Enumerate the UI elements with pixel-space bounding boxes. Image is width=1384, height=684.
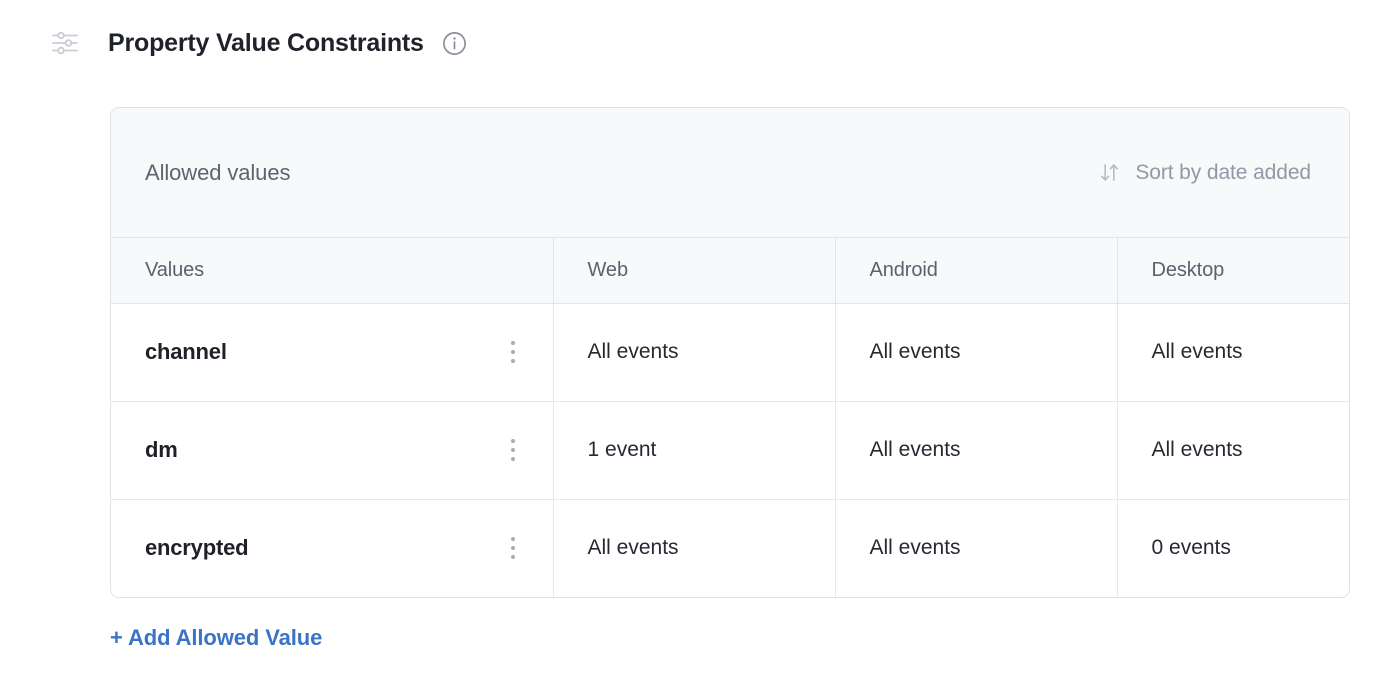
web-cell[interactable]: 1 event: [553, 401, 835, 499]
kebab-menu-icon[interactable]: [503, 335, 523, 369]
sort-by-control[interactable]: Sort by date added: [1098, 161, 1311, 185]
table-header: Values Web Android Desktop: [111, 238, 1349, 303]
value-name: encrypted: [145, 535, 248, 561]
table-body: channel All events All events All events…: [111, 303, 1349, 597]
allowed-values-table: Values Web Android Desktop channel All e…: [111, 238, 1349, 597]
card-header: Allowed values Sort by date added: [111, 108, 1349, 238]
sort-label: Sort by date added: [1135, 161, 1311, 185]
value-cell: encrypted: [111, 499, 553, 597]
web-cell[interactable]: All events: [553, 499, 835, 597]
value-name: channel: [145, 339, 227, 365]
desktop-cell[interactable]: 0 events: [1117, 499, 1349, 597]
sort-arrows-icon: [1098, 161, 1121, 184]
desktop-cell[interactable]: All events: [1117, 303, 1349, 401]
android-cell[interactable]: All events: [835, 303, 1117, 401]
table-row: channel All events All events All events: [111, 303, 1349, 401]
desktop-cell[interactable]: All events: [1117, 401, 1349, 499]
android-cell[interactable]: All events: [835, 401, 1117, 499]
value-name: dm: [145, 437, 178, 463]
info-icon[interactable]: [442, 31, 467, 56]
kebab-menu-icon[interactable]: [503, 433, 523, 467]
web-cell[interactable]: All events: [553, 303, 835, 401]
column-header-web[interactable]: Web: [553, 238, 835, 303]
value-cell: dm: [111, 401, 553, 499]
card-title: Allowed values: [145, 160, 290, 186]
page-title: Property Value Constraints: [108, 28, 424, 58]
value-cell: channel: [111, 303, 553, 401]
android-cell[interactable]: All events: [835, 499, 1117, 597]
section-header: Property Value Constraints: [50, 28, 467, 58]
kebab-menu-icon[interactable]: [503, 531, 523, 565]
column-header-values[interactable]: Values: [111, 238, 553, 303]
allowed-values-card: Allowed values Sort by date added: [110, 107, 1350, 598]
table-row: dm 1 event All events All events: [111, 401, 1349, 499]
table-row: encrypted All events All events 0 events: [111, 499, 1349, 597]
add-allowed-value-button[interactable]: + Add Allowed Value: [110, 625, 322, 651]
table-header-row: Values Web Android Desktop: [111, 238, 1349, 303]
column-header-desktop[interactable]: Desktop: [1117, 238, 1349, 303]
property-value-constraints-page: Property Value Constraints Allowed value…: [0, 0, 1384, 684]
column-header-android[interactable]: Android: [835, 238, 1117, 303]
sliders-icon: [50, 28, 80, 58]
